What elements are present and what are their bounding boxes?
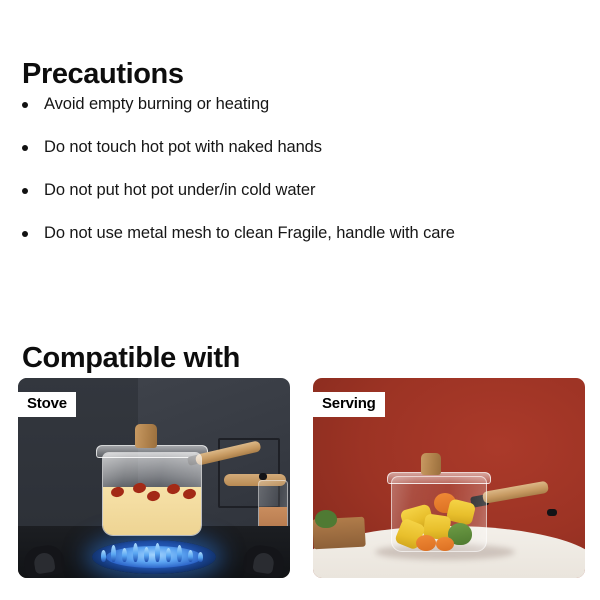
list-item-text: Do not touch hot pot with naked hands [44,138,322,156]
compatible-panel-stove: Stove [18,378,290,578]
glass-saucepan-body [102,452,202,536]
list-item: Avoid empty burning or heating [22,94,542,115]
wooden-knob-icon [135,424,157,448]
bullet-dot-icon [22,145,28,151]
pot-glass-wall [102,452,202,536]
broccoli-garnish-icon [315,510,337,528]
carrot-slice-icon [416,535,436,551]
precautions-list: Avoid empty burning or heating Do not to… [22,94,542,244]
handle-end-cap [259,473,267,480]
grate-inner [252,552,275,575]
list-item: Do not use metal mesh to clean Fragile, … [22,223,542,244]
pot-glass-wall [391,476,487,552]
list-item: Do not touch hot pot with naked hands [22,137,542,158]
list-item: Do not put hot pot under/in cold water [22,180,542,201]
list-item-text: Do not use metal mesh to clean Fragile, … [44,224,455,242]
burner-grate-left-icon [22,543,66,578]
gas-flame-tips-icon [99,536,209,562]
grate-inner [33,552,56,575]
precautions-heading: Precautions [22,60,184,89]
infographic-page: Precautions Avoid empty burning or heati… [0,0,600,600]
glass-saucepan-body [391,476,487,552]
handle-end-cap [547,509,557,516]
bullet-dot-icon [22,102,28,108]
burner-grate-right-icon [242,543,286,578]
panel-badge-stove: Stove [18,392,76,417]
carrot-slice-icon [436,537,454,551]
compatible-panel-serving: Serving [313,378,585,578]
bullet-dot-icon [22,188,28,194]
panel-badge-serving: Serving [313,392,385,417]
list-item-text: Do not put hot pot under/in cold water [44,181,315,199]
wooden-knob-icon [421,453,441,475]
bullet-dot-icon [22,231,28,237]
list-item-text: Avoid empty burning or heating [44,95,269,113]
compatible-panels: Stove [18,378,583,578]
compatible-heading: Compatible with [22,344,240,373]
